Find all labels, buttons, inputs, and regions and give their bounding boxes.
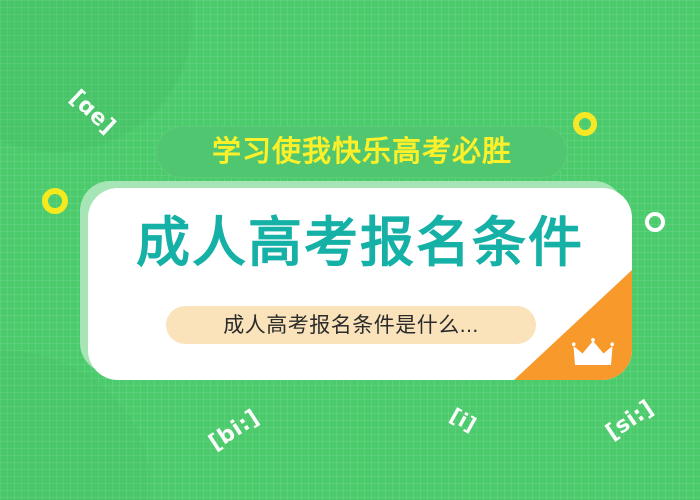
main-card: 成人高考报名条件 成人高考报名条件是什么...	[88, 188, 632, 380]
banner-text: 学习使我快乐高考必胜	[212, 138, 512, 167]
decorative-ring-white-right	[645, 212, 665, 232]
decorative-ring-yellow-top	[573, 112, 597, 136]
subtitle-text: 成人高考报名条件是什么...	[223, 315, 479, 336]
crown-icon	[572, 338, 614, 368]
page-title: 成人高考报名条件	[88, 216, 632, 270]
subtitle-pill: 成人高考报名条件是什么...	[166, 306, 536, 344]
banner-pill: 学习使我快乐高考必胜	[156, 126, 568, 178]
decorative-ring-yellow-left	[42, 188, 68, 214]
poster-canvas: [ɑe] [bi:] [i] [si:] 学习使我快乐高考必胜 成人高考报名条件…	[0, 0, 700, 500]
